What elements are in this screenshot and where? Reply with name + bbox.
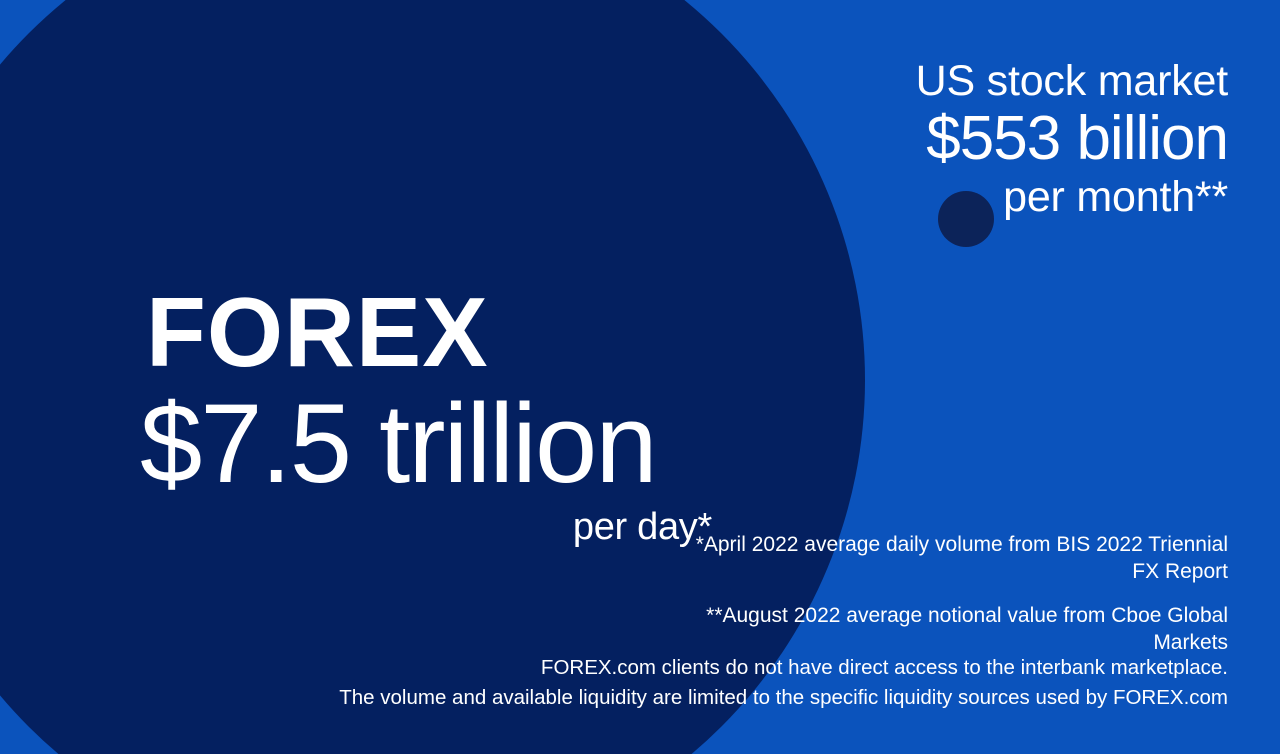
- disclaimer: FOREX.com clients do not have direct acc…: [248, 653, 1228, 715]
- forex-period: per day*: [140, 507, 712, 549]
- infographic-canvas: US stock market $553 billion per month**…: [0, 0, 1280, 754]
- stock-market-value: $553 billion: [588, 106, 1228, 172]
- disclaimer-line-2: The volume and available liquidity are l…: [248, 683, 1228, 714]
- footnotes: *April 2022 average daily volume from BI…: [668, 532, 1228, 657]
- stock-market-period: per month**: [588, 174, 1228, 220]
- forex-title: FOREX: [146, 283, 740, 381]
- stock-market-label: US stock market: [588, 58, 1228, 104]
- footnote-forex-source: *April 2022 average daily volume from BI…: [668, 532, 1228, 586]
- us-stock-market-stat-block: US stock market $553 billion per month**: [588, 58, 1228, 221]
- footnote-stock-source: **August 2022 average notional value fro…: [668, 603, 1228, 657]
- forex-value: $7.5 trillion: [140, 385, 740, 503]
- disclaimer-line-1: FOREX.com clients do not have direct acc…: [248, 653, 1228, 684]
- forex-stat-block: FOREX $7.5 trillion per day*: [140, 283, 740, 548]
